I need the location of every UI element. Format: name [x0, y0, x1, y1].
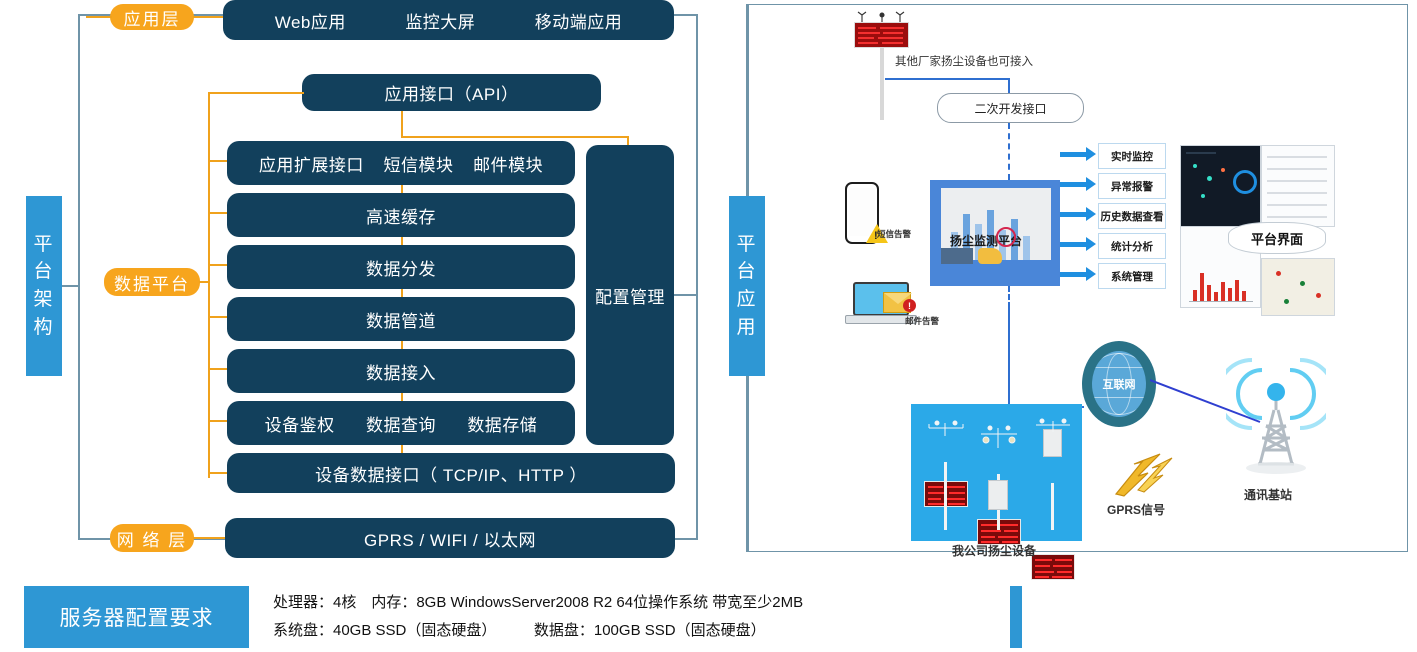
connector-data-badge-to-spine [199, 281, 210, 283]
badge-data-platform-label: 数据平台 [114, 270, 190, 295]
badge-network-layer[interactable]: 网 络 层 [110, 524, 194, 552]
sms-alarm-label: 短信告警 [877, 228, 911, 240]
arch-label-char-1: 台 [33, 258, 54, 286]
data-row-5-item-2: 数据存储 [467, 411, 537, 436]
mail-alert-badge: ! [903, 299, 916, 312]
data-row-5[interactable]: 设备鉴权 数据查询 数据存储 [227, 401, 575, 445]
badge-network-layer-label: 网 络 层 [117, 526, 187, 551]
third-party-note: 其他厂家扬尘设备也可接入 [895, 53, 1033, 69]
chart-bar-3 [1214, 292, 1218, 301]
internet-label: 互联网 [1092, 376, 1146, 392]
list-line-5 [1267, 216, 1327, 218]
menu-item-alarm[interactable]: 异常报警 [1098, 173, 1166, 199]
data-row-1-label: 高速缓存 [366, 203, 436, 228]
device-led-2 [1031, 554, 1075, 580]
data-row-5-item-1: 数据查询 [366, 411, 436, 436]
internet-globe-inner: 互联网 [1092, 351, 1146, 417]
server-requirements-caption: 服务器配置要求 [24, 602, 249, 632]
tick-row-4 [208, 368, 228, 370]
gprs-signal-icon [1108, 450, 1178, 498]
secondary-development-interface-box[interactable]: 二次开发接口 [937, 93, 1084, 123]
dash-dot-2 [1221, 168, 1225, 172]
config-management-box[interactable]: 配置管理 [586, 145, 674, 445]
menu-item-system-label: 系统管理 [1111, 269, 1153, 284]
data-row-0[interactable]: 应用扩展接口 短信模块 邮件模块 [227, 141, 575, 185]
dash-dot-1 [1207, 176, 1212, 181]
data-row-0-item-0: 应用扩展接口 [259, 151, 364, 176]
config-management-label: 配置管理 [595, 283, 665, 308]
app-item-mobile: 移动端应用 [535, 8, 623, 33]
sdk-to-platform-dashed-line [1008, 123, 1010, 180]
menu-item-history[interactable]: 历史数据查看 [1098, 203, 1166, 229]
led-to-sdk-vertical [1008, 78, 1010, 93]
rowchain-4 [401, 341, 403, 349]
tick-row-6 [208, 472, 228, 474]
chart-bar-2 [1207, 285, 1211, 301]
menu-item-realtime[interactable]: 实时监控 [1098, 143, 1166, 169]
chart-bar-6 [1235, 280, 1239, 301]
connector-app-badge-left [86, 16, 112, 18]
map-dot-1 [1300, 281, 1305, 286]
chart-bar-4 [1221, 282, 1225, 301]
connector-network-badge [193, 537, 225, 539]
app-label-stem-top [746, 4, 748, 196]
architecture-bracket-vertical [78, 14, 80, 540]
gprs-signal-label: GPRS信号 [1107, 501, 1165, 518]
device-control-box [988, 480, 1008, 510]
device-photo-label: 我公司扬尘设备 [952, 542, 1036, 559]
map-dot-0 [1276, 271, 1281, 276]
tick-row-0 [208, 160, 228, 162]
data-row-4[interactable]: 数据接入 [227, 349, 575, 393]
third-party-led-device-icon [854, 22, 909, 48]
device-sensor-0 [925, 420, 967, 436]
chart-bar-5 [1228, 288, 1232, 301]
badge-data-platform[interactable]: 数据平台 [104, 268, 200, 296]
chart-bar-0 [1193, 290, 1197, 301]
data-row-0-item-1: 短信模块 [383, 151, 453, 176]
internet-globe-icon: 互联网 [1082, 341, 1156, 427]
base-station-label: 通讯基站 [1244, 486, 1292, 503]
server-requirements-panel: 处理器：4核 内存：8GB WindowsServer2008 R2 64位操作… [249, 586, 1010, 648]
dash-line-0 [1186, 152, 1216, 154]
app-item-screen: 监控大屏 [405, 8, 475, 33]
menu-item-realtime-label: 实时监控 [1111, 149, 1153, 164]
architecture-label-connector [62, 285, 80, 287]
data-row-3[interactable]: 数据管道 [227, 297, 575, 341]
data-row-6-label: 设备数据接口（ TCP/IP、HTTP ） [315, 461, 587, 486]
menu-item-system[interactable]: 系统管理 [1098, 263, 1166, 289]
menu-item-statistics[interactable]: 统计分析 [1098, 233, 1166, 259]
network-layer-box[interactable]: GPRS / WIFI / 以太网 [225, 518, 675, 558]
map-dot-2 [1316, 293, 1321, 298]
platform-ui-callout: 平台界面 [1228, 222, 1326, 254]
device-pole-2 [1051, 483, 1054, 530]
list-line-1 [1267, 168, 1327, 170]
connector-api-to-spine [208, 92, 304, 94]
led-to-sdk-horizontal [885, 78, 1009, 80]
dash-dot-3 [1201, 194, 1205, 198]
globe-parallel-0 [1092, 367, 1146, 368]
mail-alarm-label: 邮件告警 [905, 315, 939, 327]
connector-api-down [401, 111, 403, 138]
app-label-char-2: 应 [736, 286, 757, 314]
data-row-3-label: 数据管道 [366, 307, 436, 332]
thumbnail-device-list [1261, 145, 1335, 227]
chart-bar-1 [1200, 273, 1204, 301]
tick-row-5 [208, 420, 228, 422]
network-layer-label: GPRS / WIFI / 以太网 [364, 526, 536, 551]
api-box-label: 应用接口（API） [385, 80, 519, 105]
communication-tower-icon [1226, 352, 1326, 482]
connector-app-badge-right [193, 16, 223, 18]
led-sensor-mast-icon [856, 10, 908, 22]
list-line-2 [1267, 180, 1327, 182]
platform-application-label: 平 台 应 用 [729, 196, 765, 376]
server-requirements-bar: 服务器配置要求 处理器：4核 内存：8GB WindowsServer2008 … [24, 586, 1022, 648]
dash-dot-0 [1193, 164, 1197, 168]
arch-label-char-0: 平 [33, 231, 54, 259]
list-line-4 [1267, 204, 1327, 206]
device-sensor-1 [978, 424, 1020, 448]
menu-item-statistics-label: 统计分析 [1111, 239, 1153, 254]
menu-item-history-label: 历史数据查看 [1101, 209, 1164, 224]
platform-bottom-dashed-line [1008, 286, 1010, 308]
connector-api-to-config [401, 136, 628, 138]
badge-application-layer-label: 应用层 [124, 5, 181, 30]
globe-parallel-1 [1092, 397, 1146, 398]
data-row-4-label: 数据接入 [366, 359, 436, 384]
rowchain-1 [401, 185, 403, 193]
platform-bar-6 [1023, 236, 1030, 260]
platform-to-internet-vertical [1008, 308, 1010, 408]
data-row-1[interactable]: 高速缓存 [227, 193, 575, 237]
dash-ring [1233, 170, 1257, 194]
hand-cursor-icon [978, 248, 1002, 264]
application-layer-box[interactable]: Web应用 监控大屏 移动端应用 [223, 0, 674, 40]
arrow-to-menu-2 [1060, 208, 1096, 222]
arrow-to-menu-1 [1060, 178, 1096, 192]
arrow-to-menu-3 [1060, 238, 1096, 252]
sdk-box-label: 二次开发接口 [974, 100, 1046, 117]
data-row-6[interactable]: 设备数据接口（ TCP/IP、HTTP ） [227, 453, 675, 493]
tick-row-1 [208, 212, 228, 214]
chart-axis [1189, 301, 1253, 302]
rowchain-5 [401, 393, 403, 401]
platform-screen-footer [941, 248, 973, 264]
rowchain-6 [401, 445, 403, 453]
data-row-5-item-0: 设备鉴权 [265, 411, 335, 436]
arch-label-char-2: 架 [33, 286, 54, 314]
map-dot-3 [1284, 299, 1289, 304]
device-pole-0 [944, 462, 947, 530]
device-sensor-2 [1032, 418, 1074, 432]
api-box[interactable]: 应用接口（API） [302, 74, 601, 111]
badge-application-layer[interactable]: 应用层 [110, 4, 194, 30]
app-label-char-3: 用 [736, 314, 757, 342]
connector-config-to-bracket [674, 294, 698, 296]
thumbnail-map [1261, 258, 1335, 316]
server-requirements-line-1: 系统盘：40GB SSD（固态硬盘） 数据盘：100GB SSD（固态硬盘） [273, 617, 1010, 645]
platform-architecture-label: 平 台 架 构 [26, 196, 62, 376]
device-sensor-housing [1043, 429, 1062, 457]
server-requirements-line-0: 处理器：4核 内存：8GB WindowsServer2008 R2 64位操作… [273, 589, 1010, 617]
led-pole-icon [880, 48, 884, 120]
menu-item-alarm-label: 异常报警 [1111, 179, 1153, 194]
tick-row-2 [208, 264, 228, 266]
data-row-2[interactable]: 数据分发 [227, 245, 575, 289]
arrow-to-menu-0 [1060, 148, 1096, 162]
app-item-web: Web应用 [275, 8, 346, 33]
rowchain-3 [401, 289, 403, 297]
data-row-0-item-2: 邮件模块 [473, 151, 543, 176]
magnifier-icon [996, 227, 1016, 247]
list-line-3 [1267, 192, 1327, 194]
architecture-bracket-right [696, 14, 698, 540]
list-line-0 [1267, 156, 1327, 158]
arrow-to-menu-4 [1060, 268, 1096, 282]
rowchain-2 [401, 237, 403, 245]
thumbnail-monitoring-dashboard [1180, 145, 1261, 227]
arch-label-char-3: 构 [33, 314, 54, 342]
app-label-char-1: 台 [736, 258, 757, 286]
chart-bar-7 [1242, 291, 1246, 301]
app-label-char-0: 平 [736, 231, 757, 259]
tick-row-3 [208, 316, 228, 318]
data-row-2-label: 数据分发 [366, 255, 436, 280]
app-label-stem-bottom [746, 376, 748, 552]
